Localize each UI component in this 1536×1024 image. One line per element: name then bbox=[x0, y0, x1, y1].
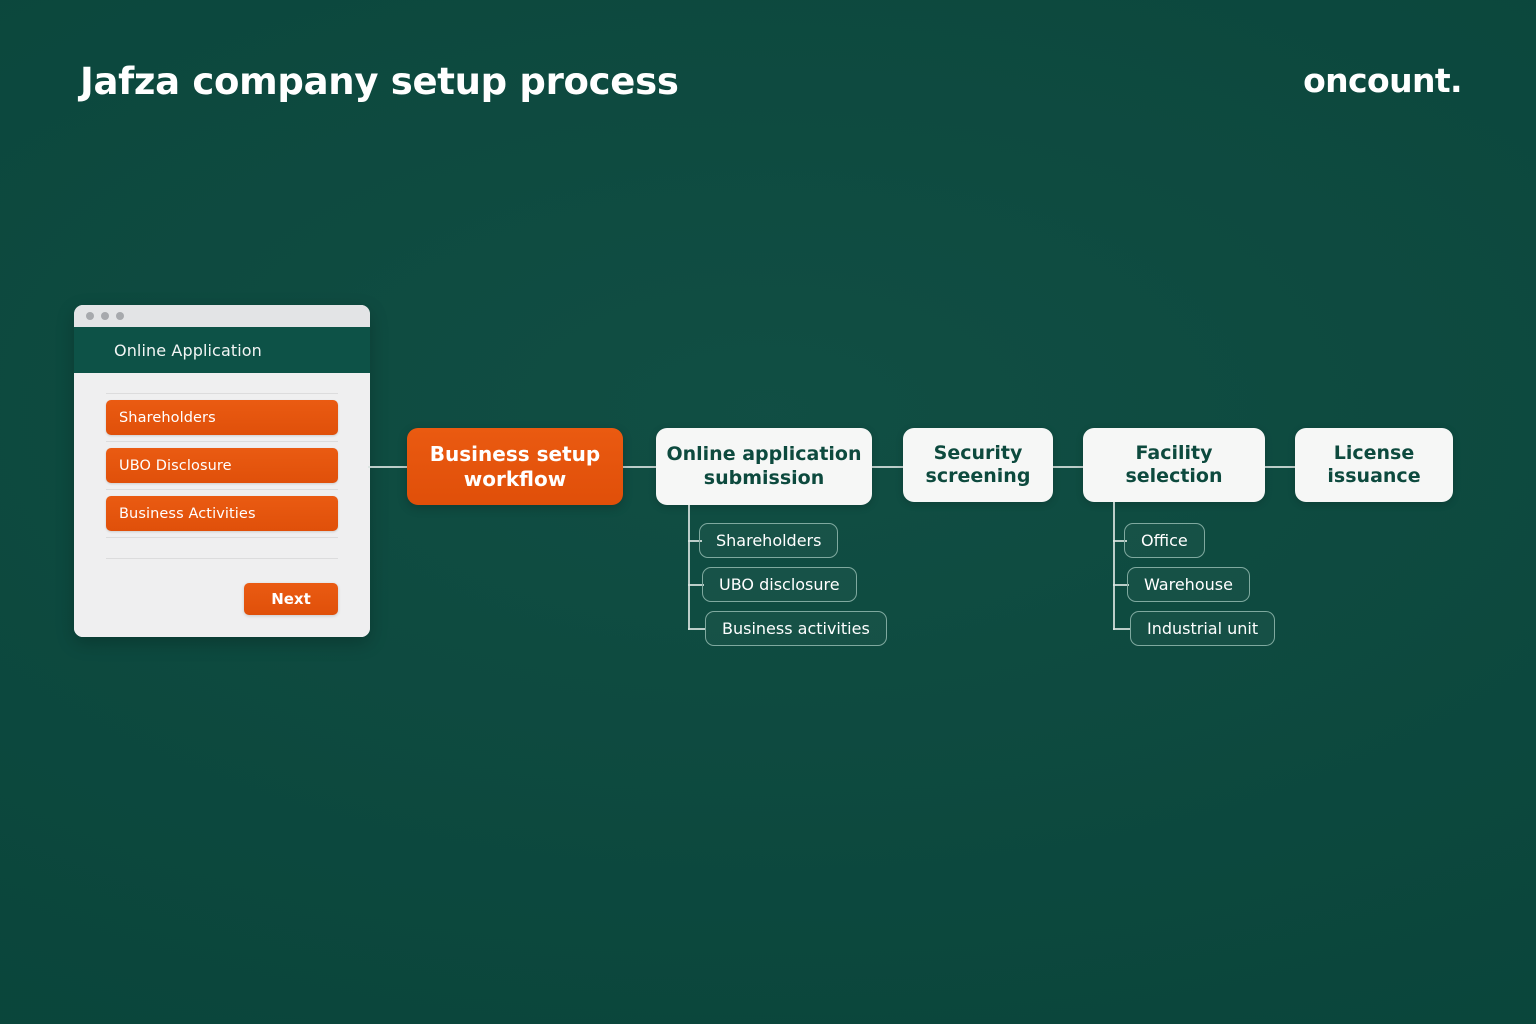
node-label-line1: Online application bbox=[666, 443, 861, 466]
subnode-label: Shareholders bbox=[716, 531, 821, 550]
node-label-line2: issuance bbox=[1327, 465, 1420, 488]
window-titlebar bbox=[74, 305, 370, 327]
window-minimize-dot-icon[interactable] bbox=[101, 312, 109, 320]
brand-logo: oncount. bbox=[1303, 61, 1462, 100]
next-button[interactable]: Next bbox=[244, 583, 338, 615]
window-body: Shareholders UBO Disclosure Business Act… bbox=[74, 373, 370, 637]
form-option-shareholders[interactable]: Shareholders bbox=[106, 400, 338, 435]
form-divider-2 bbox=[106, 489, 338, 490]
node-facility-selection[interactable]: Facility selection bbox=[1083, 428, 1265, 502]
connector-window-to-primary bbox=[368, 466, 412, 468]
subnode-industrial-unit[interactable]: Industrial unit bbox=[1130, 611, 1275, 646]
subnode-label: Industrial unit bbox=[1147, 619, 1258, 638]
subnode-shareholders[interactable]: Shareholders bbox=[699, 523, 838, 558]
branch-arm-industrial-unit bbox=[1113, 628, 1131, 630]
window-header: Online Application bbox=[74, 327, 370, 373]
connector-primary-to-stage-1 bbox=[620, 466, 660, 468]
connector-stage-2-to-stage-3 bbox=[1050, 466, 1086, 468]
window-form-footer: Next bbox=[106, 558, 338, 615]
node-label-line2: selection bbox=[1125, 465, 1222, 488]
node-label-line1: Security bbox=[934, 442, 1023, 465]
window-header-title: Online Application bbox=[114, 341, 262, 360]
node-security-screening[interactable]: Security screening bbox=[903, 428, 1053, 502]
node-label-line1: Facility bbox=[1136, 442, 1213, 465]
subnode-label: Warehouse bbox=[1144, 575, 1233, 594]
page-title: Jafza company setup process bbox=[80, 60, 679, 103]
subnode-label: Business activities bbox=[722, 619, 870, 638]
form-divider-top bbox=[106, 393, 338, 394]
form-divider-1 bbox=[106, 441, 338, 442]
branch-arm-business-activities bbox=[688, 628, 706, 630]
node-label-line2: screening bbox=[926, 465, 1031, 488]
node-label-line2: submission bbox=[704, 467, 824, 490]
subnode-warehouse[interactable]: Warehouse bbox=[1127, 567, 1250, 602]
subnode-ubo-disclosure[interactable]: UBO disclosure bbox=[702, 567, 857, 602]
subnode-business-activities[interactable]: Business activities bbox=[705, 611, 887, 646]
form-divider-3 bbox=[106, 537, 338, 538]
branch-trunk-facility bbox=[1113, 502, 1115, 630]
form-option-label: UBO Disclosure bbox=[119, 458, 232, 474]
subnode-label: UBO disclosure bbox=[719, 575, 840, 594]
node-license-issuance[interactable]: License issuance bbox=[1295, 428, 1453, 502]
form-option-label: Business Activities bbox=[119, 506, 256, 522]
branch-trunk-submission bbox=[688, 505, 690, 630]
node-label-line2: workflow bbox=[464, 467, 566, 491]
node-online-application-submission[interactable]: Online application submission bbox=[656, 428, 872, 505]
node-business-setup-workflow[interactable]: Business setup workflow bbox=[407, 428, 623, 505]
form-divider-footer bbox=[106, 558, 338, 559]
form-option-label: Shareholders bbox=[119, 410, 216, 426]
subnode-office[interactable]: Office bbox=[1124, 523, 1205, 558]
node-label-line1: Business setup bbox=[430, 442, 600, 466]
connector-stage-1-to-stage-2 bbox=[870, 466, 906, 468]
form-option-business-activities[interactable]: Business Activities bbox=[106, 496, 338, 531]
node-label-line1: License bbox=[1334, 442, 1415, 465]
window-maximize-dot-icon[interactable] bbox=[116, 312, 124, 320]
subnode-label: Office bbox=[1141, 531, 1188, 550]
online-application-window: Online Application Shareholders UBO Disc… bbox=[74, 305, 370, 637]
form-option-ubo-disclosure[interactable]: UBO Disclosure bbox=[106, 448, 338, 483]
window-close-dot-icon[interactable] bbox=[86, 312, 94, 320]
